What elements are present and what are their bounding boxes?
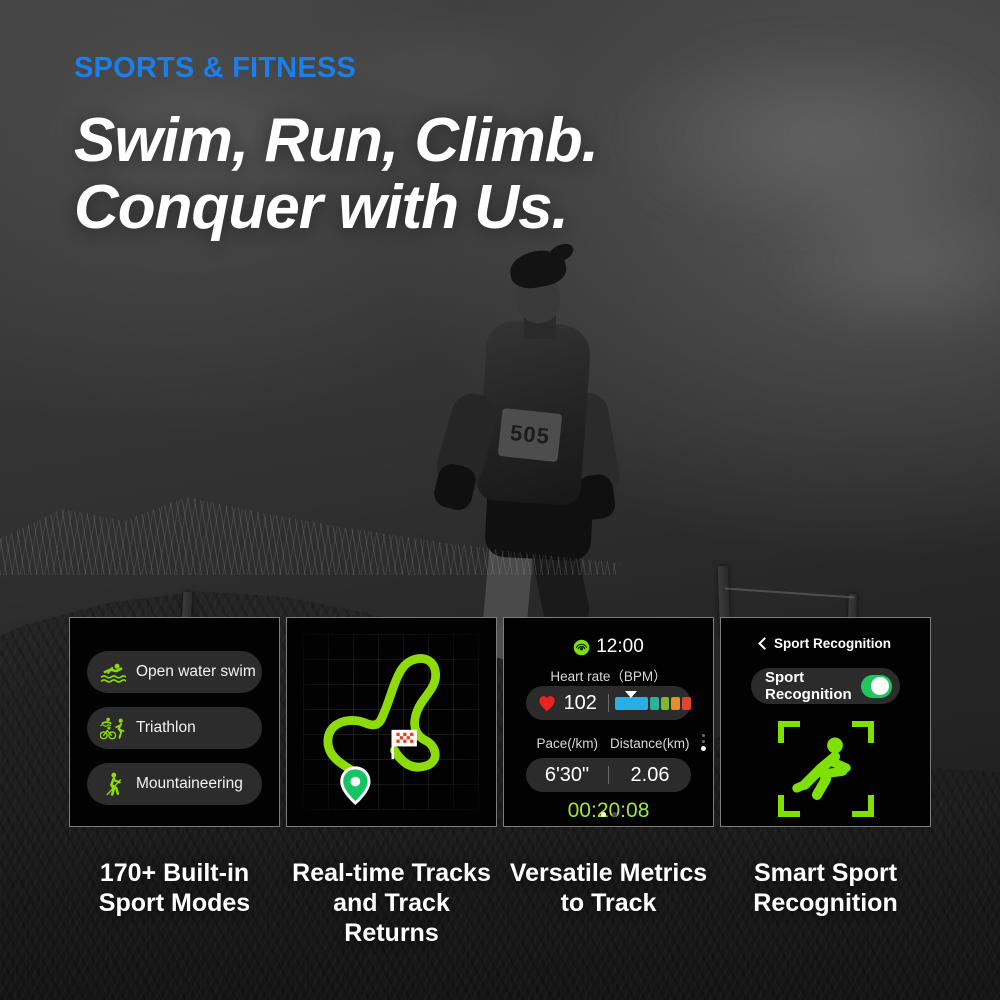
page-title: Swim, Run, Climb. Conquer with Us. xyxy=(74,108,598,242)
duration-label: Duration xyxy=(504,825,713,827)
zone-segment-1 xyxy=(615,697,648,710)
metrics-status-row: 12:00 xyxy=(504,636,713,658)
toggle-knob xyxy=(871,677,889,695)
caption-line-1: 170+ Built-in xyxy=(69,858,280,888)
list-item-label: Triathlon xyxy=(136,719,196,737)
triathlon-icon xyxy=(100,715,126,741)
back-chevron-icon[interactable] xyxy=(758,637,771,650)
sport-recognition-toggle[interactable] xyxy=(861,675,892,698)
track-route xyxy=(287,618,496,826)
caption-line-2: to Track xyxy=(503,888,714,918)
scroll-dot xyxy=(702,734,705,737)
zone-segment-3 xyxy=(661,697,670,710)
caption-sport-recognition: Smart Sport Recognition xyxy=(720,858,931,948)
heart-rate-value-group: 102 xyxy=(526,692,608,715)
list-item[interactable]: Mountaineering xyxy=(87,763,262,805)
page-dots[interactable] xyxy=(504,812,713,817)
card-versatile-metrics[interactable]: 12:00 Heart rate（BPM） 102 xyxy=(503,617,714,827)
list-item-label: Open water swim xyxy=(136,663,256,681)
page-dot-active xyxy=(601,812,606,817)
caption-line-1: Smart Sport xyxy=(720,858,931,888)
pace-distance-labels: Pace(/km) Distance(km) xyxy=(526,736,691,751)
list-item[interactable]: Open water swim xyxy=(87,651,262,693)
scroll-dot-active xyxy=(701,746,706,751)
pace-distance-row[interactable]: 6'30" 2.06 xyxy=(526,758,691,792)
headline-line-1: Swim, Run, Climb. xyxy=(74,106,598,175)
sport-recognition-setting-row[interactable]: Sport Recognition xyxy=(751,668,900,704)
zone-marker-icon xyxy=(625,691,637,698)
heart-rate-value: 102 xyxy=(564,692,597,715)
sport-mode-list: Open water swim xyxy=(87,651,262,805)
track-map[interactable] xyxy=(287,618,496,826)
zone-segment-4 xyxy=(671,697,680,710)
setting-label: Sport Recognition xyxy=(765,669,861,703)
list-item-label: Mountaineering xyxy=(136,775,243,793)
caption-line-2: Recognition xyxy=(720,888,931,918)
caption-line-1: Versatile Metrics xyxy=(503,858,714,888)
screen-title: Sport Recognition xyxy=(774,636,891,651)
page-dot xyxy=(612,812,617,817)
eyebrow-label: SPORTS & FITNESS xyxy=(74,52,356,85)
headline-line-2: Conquer with Us. xyxy=(74,175,598,242)
heart-rate-label: Heart rate（BPM） xyxy=(504,665,713,685)
list-item[interactable]: Triathlon xyxy=(87,707,262,749)
caption-line-2: Sport Modes xyxy=(69,888,280,918)
zone-segment-5 xyxy=(682,697,691,710)
clock-time: 12:00 xyxy=(596,636,644,658)
runner-silhouette: 505 xyxy=(420,243,680,673)
open-water-swim-icon xyxy=(100,659,126,685)
duration-value: 00:20:08 xyxy=(504,799,713,823)
distance-value: 2.06 xyxy=(609,764,691,787)
gps-signal-icon xyxy=(573,639,590,656)
card-real-time-track[interactable] xyxy=(286,617,497,827)
scroll-dot xyxy=(702,740,705,743)
caption-real-time-track: Real-time Tracks and Track Returns xyxy=(286,858,497,948)
zone-segment-2 xyxy=(650,697,659,710)
caption-versatile-metrics: Versatile Metrics to Track xyxy=(503,858,714,948)
pace-value: 6'30" xyxy=(526,764,608,787)
screen-header[interactable]: Sport Recognition xyxy=(721,636,930,651)
scroll-indicator[interactable] xyxy=(701,734,706,751)
heart-icon xyxy=(537,694,557,712)
location-pin-icon xyxy=(342,768,369,803)
heart-rate-zone-bar xyxy=(609,697,692,710)
caption-line-2: and Track Returns xyxy=(286,888,497,948)
heart-rate-row[interactable]: 102 xyxy=(526,686,691,720)
caption-row: 170+ Built-in Sport Modes Real-time Trac… xyxy=(69,858,931,948)
scan-frame xyxy=(778,721,874,817)
promo-page: 505 SPORTS & FITNESS Swim, Run, Climb. C… xyxy=(0,0,1000,1000)
runner-race-bib: 505 xyxy=(498,408,563,462)
running-person-icon xyxy=(790,733,862,805)
pace-label: Pace(/km) xyxy=(526,736,609,751)
card-sport-recognition[interactable]: Sport Recognition Sport Recognition xyxy=(720,617,931,827)
feature-card-row: Open water swim xyxy=(69,617,931,827)
distance-label: Distance(km) xyxy=(609,736,692,751)
mountaineering-icon xyxy=(100,771,126,797)
card-sport-modes[interactable]: Open water swim xyxy=(69,617,280,827)
caption-line-1: Real-time Tracks xyxy=(286,858,497,888)
caption-sport-modes: 170+ Built-in Sport Modes xyxy=(69,858,280,948)
